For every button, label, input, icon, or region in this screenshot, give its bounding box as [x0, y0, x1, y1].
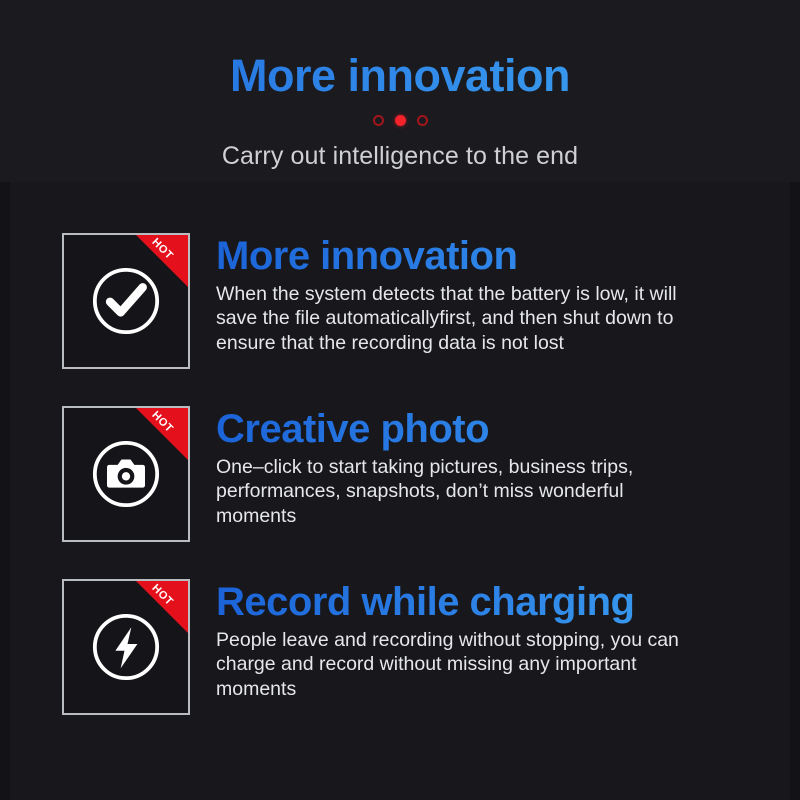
camera-circle-icon: [88, 436, 164, 512]
hero-section: More innovation Carry out intelligence t…: [0, 0, 800, 171]
feature-text-block: Creative photo One–click to start taking…: [190, 406, 800, 529]
hero-title: More innovation: [0, 52, 800, 99]
feature-item-creative-photo: HOT Creative photo One–click to start ta…: [0, 406, 800, 542]
promo-banner: More innovation Carry out intelligence t…: [0, 0, 800, 800]
pager-dot-1[interactable]: [373, 115, 384, 126]
feature-text-block: More innovation When the system detects …: [190, 233, 800, 356]
feature-item-more-innovation: HOT More innovation When the system dete…: [0, 233, 800, 369]
feature-description: People leave and recording without stopp…: [216, 628, 716, 702]
feature-icon-box: HOT: [62, 233, 190, 369]
feature-title: More innovation: [216, 235, 800, 277]
pager-dot-3[interactable]: [417, 115, 428, 126]
feature-list: HOT More innovation When the system dete…: [0, 233, 800, 715]
pager-dots[interactable]: [0, 113, 800, 127]
feature-text-block: Record while charging People leave and r…: [190, 579, 800, 702]
feature-description: When the system detects that the battery…: [216, 282, 696, 356]
check-circle-icon: [88, 263, 164, 339]
feature-description: One–click to start taking pictures, busi…: [216, 455, 696, 529]
hero-subtitle: Carry out intelligence to the end: [0, 142, 800, 171]
feature-item-record-while-charging: HOT Record while charging People leave a…: [0, 579, 800, 715]
feature-title: Creative photo: [216, 408, 800, 450]
feature-title: Record while charging: [216, 581, 800, 623]
pager-dot-2[interactable]: [395, 115, 406, 126]
feature-icon-box: HOT: [62, 579, 190, 715]
lightning-bolt-circle-icon: [88, 609, 164, 685]
feature-icon-box: HOT: [62, 406, 190, 542]
